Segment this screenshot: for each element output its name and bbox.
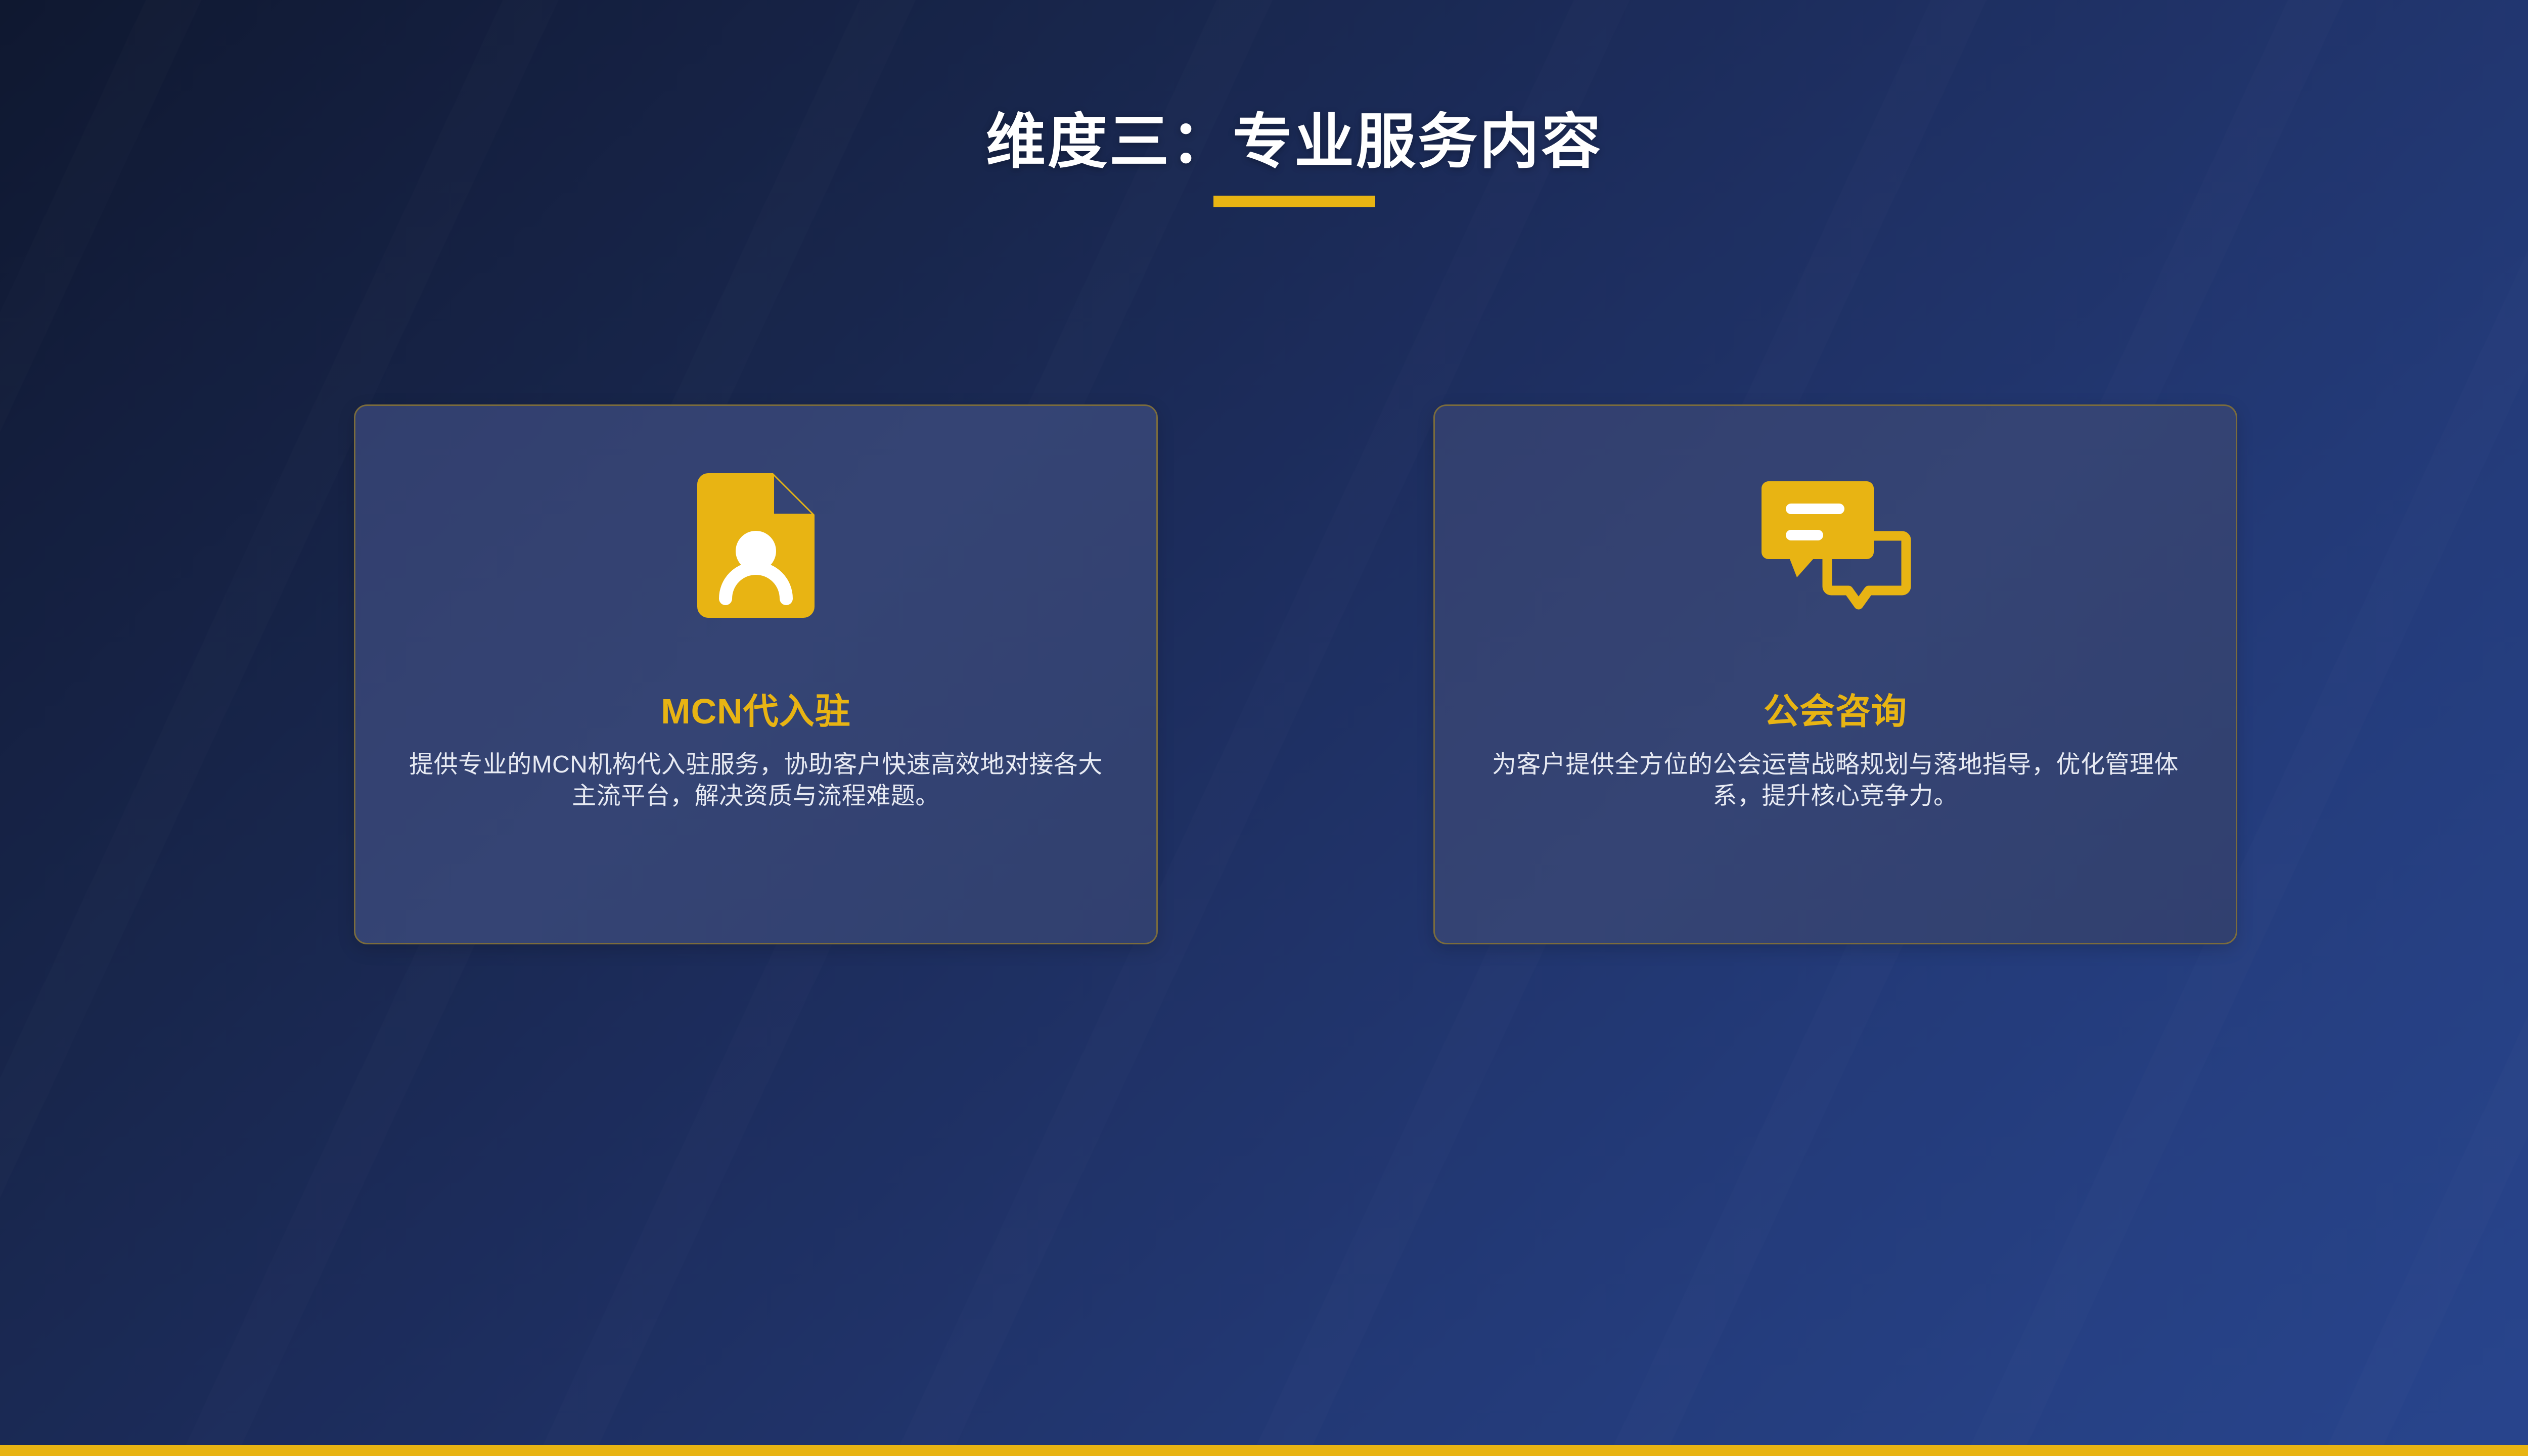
service-card-description: 提供专业的MCN机构代入驻服务，协助客户快速高效地对接各大主流平台，解决资质与流… — [402, 731, 1110, 812]
page-title: 维度三：专业服务内容 — [0, 0, 2528, 174]
document-user-icon — [697, 470, 815, 621]
slide-header: 维度三：专业服务内容 — [0, 0, 2528, 207]
service-card-consulting[interactable]: 公会咨询 为客户提供全方位的公会运营战略规划与落地指导，优化管理体系，提升核心竞… — [1433, 404, 2237, 944]
bottom-accent-bar — [0, 1445, 2528, 1456]
service-card-mcn[interactable]: MCN代入驻 提供专业的MCN机构代入驻服务，协助客户快速高效地对接各大主流平台… — [354, 404, 1158, 944]
chat-bubbles-icon — [1759, 470, 1911, 621]
service-card-title: 公会咨询 — [1764, 621, 1907, 731]
service-cards-row: MCN代入驻 提供专业的MCN机构代入驻服务，协助客户快速高效地对接各大主流平台… — [354, 404, 2237, 945]
service-card-description: 为客户提供全方位的公会运营战略规划与落地指导，优化管理体系，提升核心竞争力。 — [1481, 731, 2189, 812]
service-card-title: MCN代入驻 — [661, 621, 850, 731]
title-underline-accent — [1213, 196, 1375, 207]
slide: 维度三：专业服务内容 MCN代入驻 提供专业的MCN机构代入驻服务，协助客户快速… — [0, 0, 2528, 1456]
